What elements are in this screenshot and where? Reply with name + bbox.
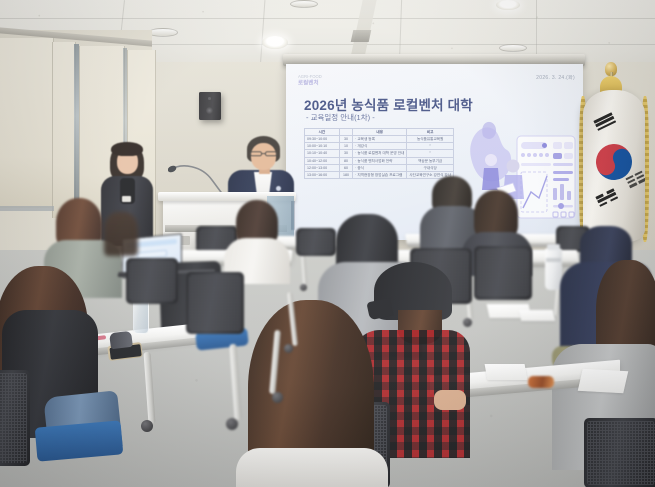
table-row: 09:30~10:00 30 · 교육생 등록 농식품유통교육원 bbox=[305, 136, 454, 143]
booklet[interactable] bbox=[578, 369, 629, 393]
ceiling-grid-line bbox=[0, 18, 655, 19]
cell-time: 10:40~12:00 bbox=[305, 157, 340, 164]
attendee-hand bbox=[434, 390, 466, 410]
cell-content: · 지역현장형 창업실습 프로그램 bbox=[353, 171, 407, 178]
table-header-row: 시간 내용 비고 bbox=[305, 129, 454, 136]
cell-content: · 농식품 로컬벤처 대학 운영 안내 bbox=[353, 150, 407, 157]
chair-back[interactable] bbox=[474, 246, 532, 300]
attendee-back-silhouette bbox=[104, 212, 138, 256]
earbud-case[interactable] bbox=[109, 331, 133, 350]
speaker-tweeter bbox=[208, 97, 211, 100]
ceiling-downlight bbox=[262, 36, 288, 49]
cell-note: 구내식당 bbox=[407, 164, 454, 171]
cell-min: 60 bbox=[339, 164, 352, 171]
male-presenter-lapel-pin bbox=[276, 186, 281, 191]
organization-logo-icon: AGRI-FOOD 로컬벤처 bbox=[298, 72, 354, 88]
cell-min: 180 bbox=[339, 171, 352, 178]
female-presenter-name-badge bbox=[122, 196, 131, 202]
window-blind[interactable] bbox=[0, 38, 54, 208]
ceiling-vent bbox=[499, 44, 527, 52]
projector-mount bbox=[351, 30, 372, 42]
thermos-lid bbox=[547, 244, 560, 250]
flag-fold-shading bbox=[583, 90, 645, 242]
thermos-band bbox=[546, 258, 561, 262]
table-caster bbox=[463, 318, 472, 327]
cell-note: 백삼문 농부기금 bbox=[407, 157, 454, 164]
table-row: 10:00~10:10 10 · 개강식 ″ bbox=[305, 143, 454, 150]
svg-text:AGRI-FOOD: AGRI-FOOD bbox=[298, 74, 322, 79]
chair-back[interactable] bbox=[186, 272, 244, 334]
handout-paper[interactable] bbox=[485, 364, 528, 380]
cell-content: · 개강식 bbox=[353, 143, 407, 150]
table-caster bbox=[284, 344, 293, 353]
table-row: 12:00~13:00 60 · 중식 구내식당 bbox=[305, 164, 454, 171]
th-time: 시간 bbox=[305, 129, 340, 136]
ceiling-vent bbox=[148, 28, 178, 37]
slide-schedule-table: 시간 내용 비고 09:30~10:00 30 · 교육생 등록 농식품유통교육… bbox=[304, 128, 454, 179]
wall-speaker-icon bbox=[199, 92, 221, 120]
slide-date: 2026. 3. 24.(화) bbox=[536, 74, 575, 81]
cell-note: ″ bbox=[407, 150, 454, 157]
cell-content: · 교육생 등록 bbox=[353, 136, 407, 143]
chair-back[interactable] bbox=[126, 258, 178, 304]
chair-back[interactable] bbox=[296, 228, 336, 256]
svg-text:로컬벤처: 로컬벤처 bbox=[298, 79, 319, 87]
female-presenter-bangs bbox=[111, 142, 143, 156]
cell-content: · 농식품 벤처사업화 전략 bbox=[353, 157, 407, 164]
male-presenter-glasses-icon bbox=[250, 151, 277, 157]
table-row: 10:10~10:40 30 · 농식품 로컬벤처 대학 운영 안내 ″ bbox=[305, 150, 454, 157]
seminar-room-photo: AGRI-FOOD 로컬벤처 2026. 3. 24.(화) 2026년 농식품… bbox=[0, 0, 655, 487]
ceiling-downlight bbox=[496, 0, 520, 10]
cell-min: 30 bbox=[339, 150, 352, 157]
cell-note: ″ bbox=[407, 143, 454, 150]
cell-time: 10:00~10:10 bbox=[305, 143, 340, 150]
table-row: 13:00~16:00 180 · 지역현장형 창업실습 프로그램 사단교육연구… bbox=[305, 171, 454, 178]
south-korean-flag-icon bbox=[583, 90, 645, 242]
cell-min: 80 bbox=[339, 157, 352, 164]
cell-note: 농식품유통교육원 bbox=[407, 136, 454, 143]
table-caster bbox=[141, 420, 153, 432]
cell-content: · 중식 bbox=[353, 164, 407, 171]
th-min bbox=[339, 129, 352, 136]
ceiling-grid-line bbox=[536, 0, 537, 58]
window-blind[interactable] bbox=[52, 42, 76, 218]
table-row: 10:40~12:00 80 · 농식품 벤처사업화 전략 백삼문 농부기금 bbox=[305, 157, 454, 164]
blind-bottom-bar bbox=[0, 206, 54, 211]
speaker-cone bbox=[206, 107, 213, 114]
table-caster bbox=[300, 284, 307, 291]
attendee-light-top bbox=[236, 448, 388, 487]
cell-time: 09:30~10:00 bbox=[305, 136, 340, 143]
cell-time: 10:10~10:40 bbox=[305, 150, 340, 157]
chair-back[interactable] bbox=[584, 418, 655, 487]
ceiling-vent bbox=[290, 0, 318, 8]
table-caster bbox=[226, 418, 238, 430]
handout-paper[interactable] bbox=[519, 310, 555, 321]
th-content: 내용 bbox=[353, 129, 407, 136]
cell-min: 30 bbox=[339, 136, 352, 143]
snack-item[interactable] bbox=[528, 376, 554, 388]
table-caster bbox=[272, 392, 283, 403]
slide-subtitle: - 교육일정 안내(1차) - bbox=[306, 112, 375, 123]
cell-min: 10 bbox=[339, 143, 352, 150]
slide-title: 2026년 농식품 로컬벤처 대학 bbox=[304, 94, 473, 114]
cell-time: 13:00~16:00 bbox=[305, 171, 340, 178]
th-note: 비고 bbox=[407, 129, 454, 136]
chair-back[interactable] bbox=[0, 370, 30, 466]
cell-time: 12:00~13:00 bbox=[305, 164, 340, 171]
